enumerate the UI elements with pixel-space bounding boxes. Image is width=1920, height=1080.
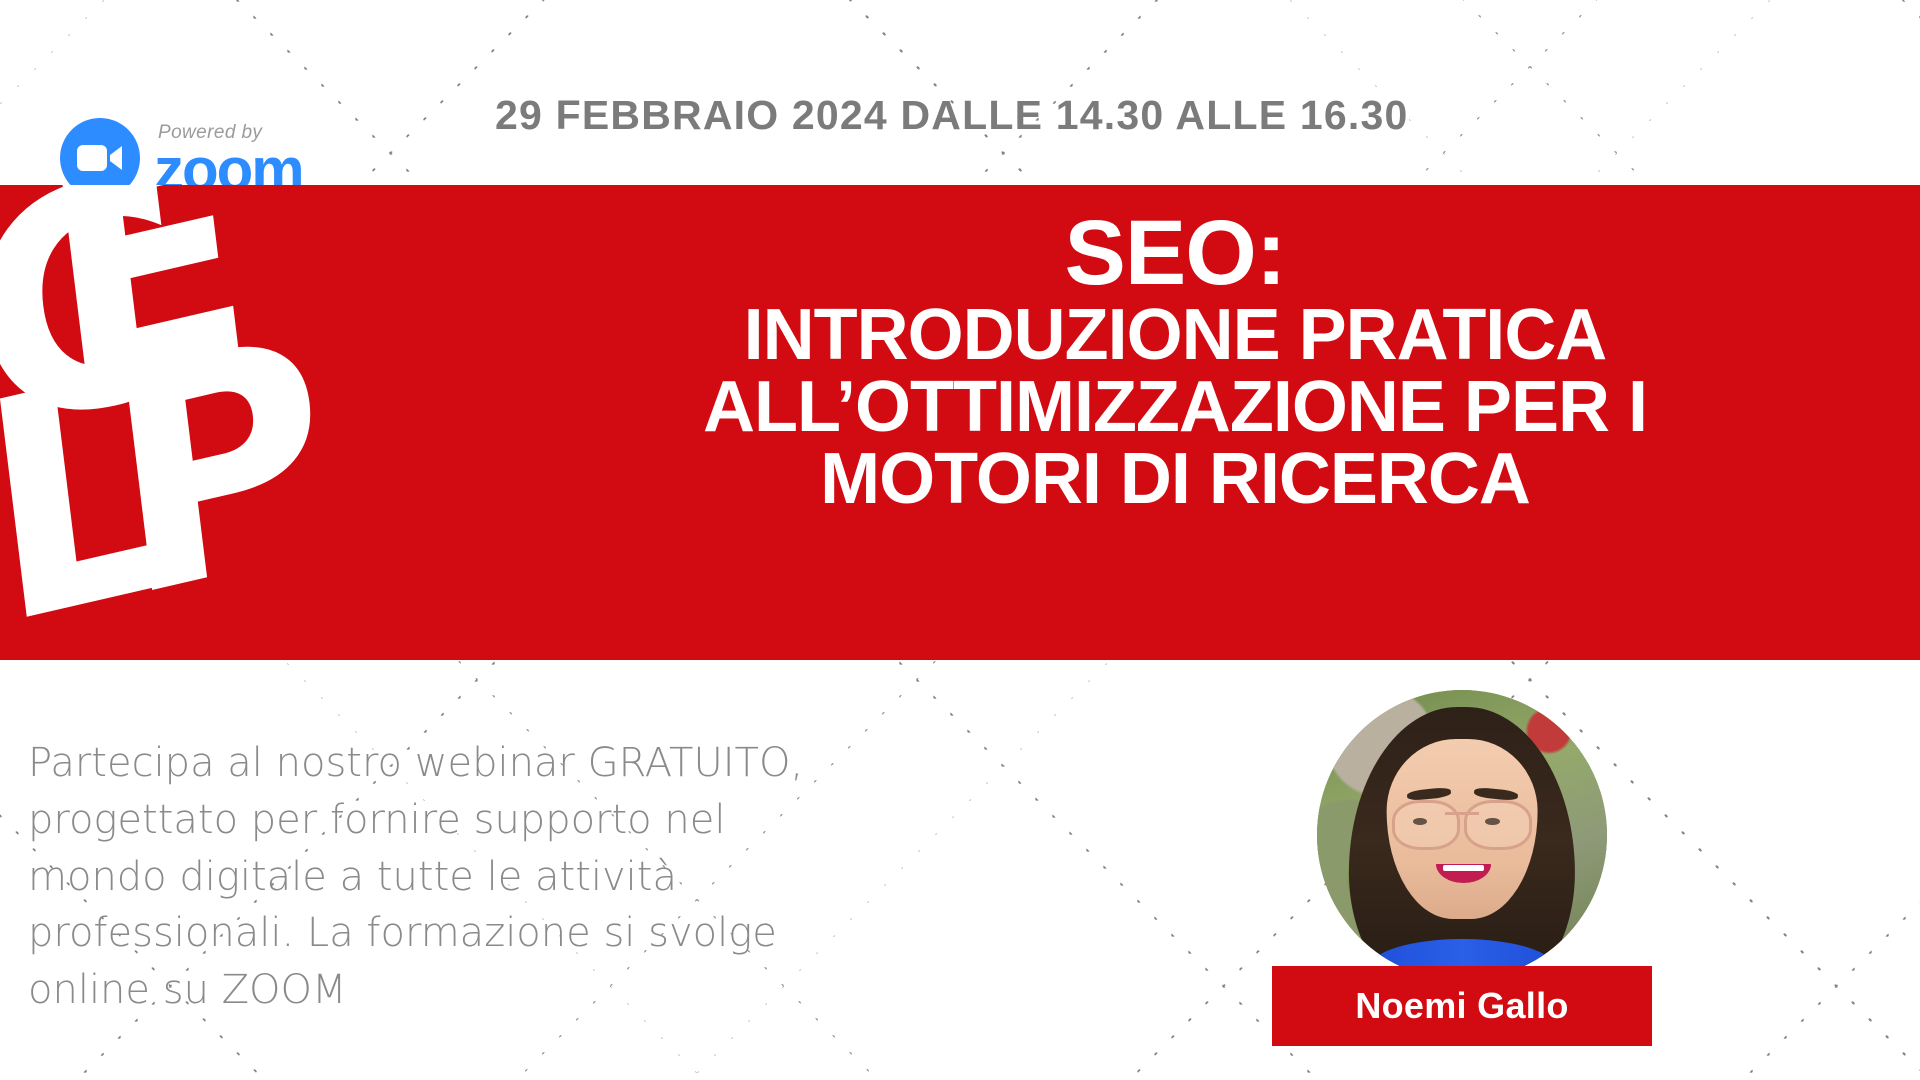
paragraph-line-5: online su ZOOM <box>28 962 988 1019</box>
eyeglasses-icon <box>1392 800 1531 844</box>
paragraph-line-3: mondo digitale a tutte le attività <box>28 849 988 906</box>
speaker-name-bar: Noemi Gallo <box>1272 966 1652 1046</box>
paragraph-line-1: Partecipa al nostro webinar GRATUITO, <box>28 735 988 792</box>
paragraph-line-4: professionali. La formazione si svolge <box>28 905 988 962</box>
title-line-1: INTRODUZIONE PRATICA <box>460 299 1890 371</box>
eyeglass-lens-left <box>1392 800 1459 850</box>
paragraph-line-2: progettato per fornire supporto nel <box>28 792 988 849</box>
eyeglass-lens-right <box>1464 800 1531 850</box>
event-date-time: 29 FEBBRAIO 2024 DALLE 14.30 ALLE 16.30 <box>495 92 1495 139</box>
logo-letter-p: P <box>98 327 330 613</box>
title-banner: C E L P SEO: INTRODUZIONE PRATICA ALL’OT… <box>0 185 1920 660</box>
page-title: SEO: INTRODUZIONE PRATICA ALL’OTTIMIZZAZ… <box>460 207 1890 515</box>
title-seo: SEO: <box>460 207 1890 299</box>
speaker-name: Noemi Gallo <box>1355 985 1568 1027</box>
title-line-2: ALL’OTTIMIZZAZIONE PER I <box>460 371 1890 443</box>
portrait-teeth <box>1443 865 1484 871</box>
eyeglass-bridge <box>1445 812 1480 815</box>
poster-canvas: Powered by zoom 29 FEBBRAIO 2024 DALLE 1… <box>0 0 1920 1080</box>
avatar <box>1317 690 1607 980</box>
description-paragraph: Partecipa al nostro webinar GRATUITO, pr… <box>28 735 988 1019</box>
clep-logo-mark: C E L P <box>0 185 480 660</box>
title-line-3: MOTORI DI RICERCA <box>460 443 1890 515</box>
